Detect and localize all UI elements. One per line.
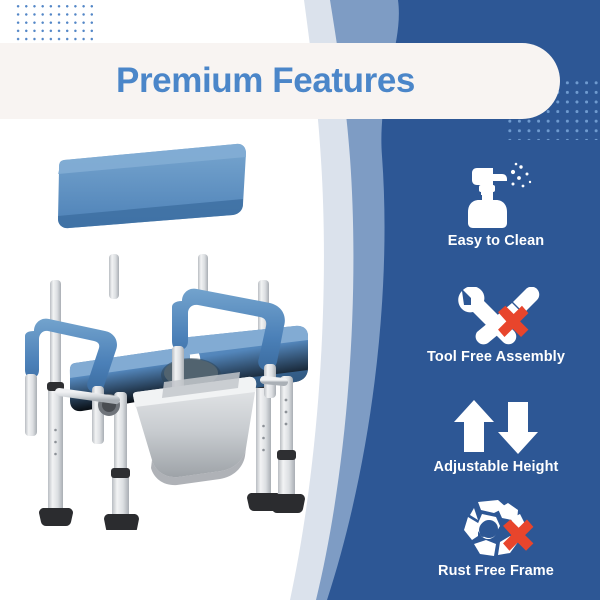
up-down-arrows-icon [450, 398, 542, 456]
feature-item-tool-free-assembly: Tool Free Assembly [392, 288, 600, 365]
features-list: Easy to Clean [392, 150, 600, 590]
wrench-screwdriver-icon [448, 287, 544, 347]
commode-chair-illustration [12, 130, 332, 530]
feature-icon-slot [392, 502, 600, 560]
feature-label: Rust Free Frame [392, 563, 600, 579]
feature-label: Adjustable Height [392, 459, 600, 475]
feature-item-rust-free-frame: Rust Free Frame [392, 502, 600, 579]
feature-label: Tool Free Assembly [392, 349, 600, 365]
infographic-canvas: Premium Features [0, 0, 600, 600]
header-banner: Premium Features [0, 43, 560, 119]
feature-item-adjustable-height: Adjustable Height [392, 398, 600, 475]
feature-icon-slot [392, 158, 600, 230]
rusted-hexagon-icon [448, 500, 544, 562]
feature-icon-slot [392, 288, 600, 346]
chair-backrest [58, 144, 246, 299]
spray-bottle-icon [453, 158, 539, 230]
product-image [12, 130, 332, 530]
feature-item-easy-to-clean: Easy to Clean [392, 158, 600, 249]
feature-label: Easy to Clean [392, 233, 600, 249]
feature-icon-slot [392, 398, 600, 456]
page-title: Premium Features [116, 61, 415, 101]
